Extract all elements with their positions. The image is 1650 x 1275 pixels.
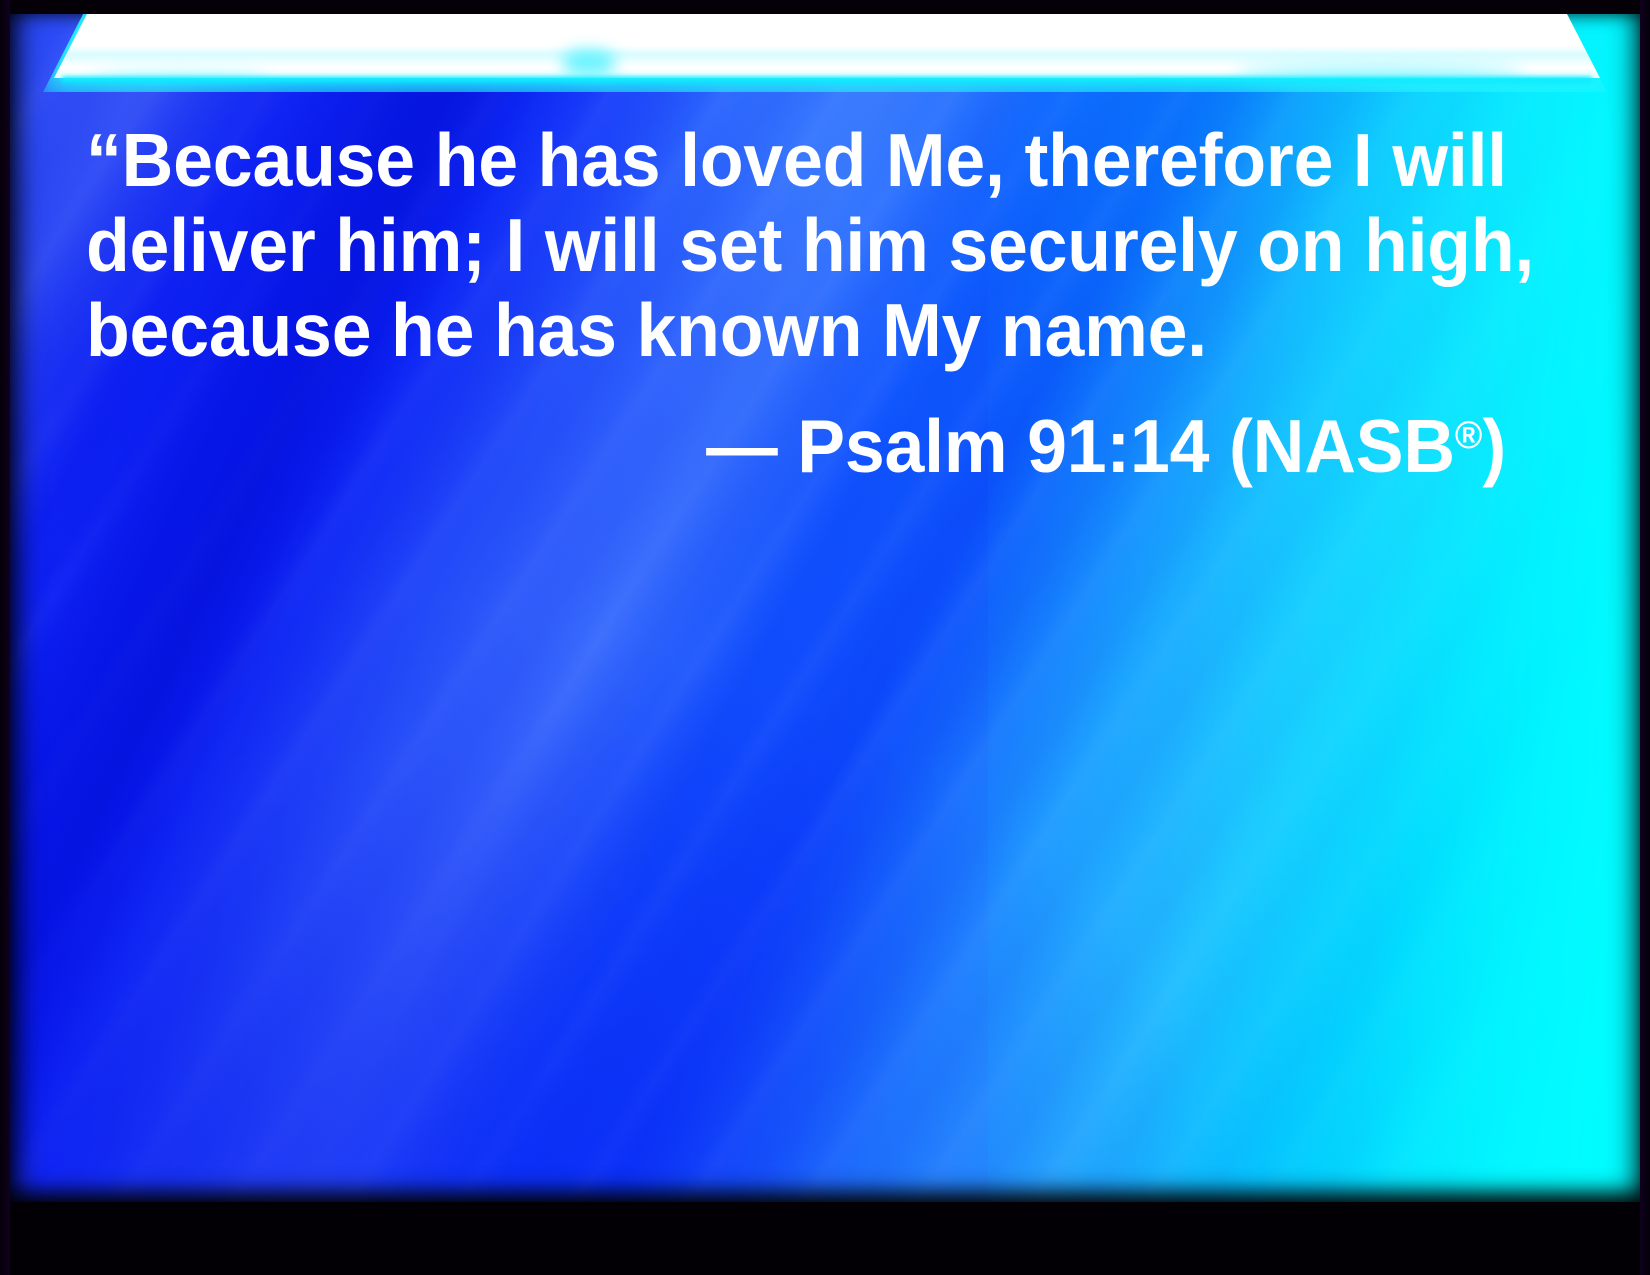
- verse-text-block: “Because he has loved Me, therefore I wi…: [86, 118, 1506, 489]
- verse-line-2: deliver him; I will set him securely on …: [86, 203, 1442, 288]
- verse-line-1: “Because he has loved Me, therefore I wi…: [86, 118, 1442, 203]
- verse-slide: “Because he has loved Me, therefore I wi…: [0, 0, 1650, 1275]
- frame-right-edge: [1640, 0, 1650, 1275]
- frame-top-edge: [0, 0, 1650, 14]
- attribution-prefix: — Psalm 91:14 (NASB: [706, 404, 1455, 488]
- frame-left-edge: [0, 0, 10, 1275]
- verse-line-3: because he has known My name.: [86, 288, 1442, 373]
- top-banner: [10, 14, 1640, 92]
- verse-attribution: — Psalm 91:14 (NASB®): [150, 393, 1506, 489]
- registered-trademark-icon: ®: [1455, 414, 1482, 457]
- banner-wisp: [563, 50, 615, 76]
- frame-bottom-edge: [0, 1202, 1650, 1275]
- banner-underline: [62, 76, 1592, 84]
- attribution-suffix: ): [1482, 404, 1506, 488]
